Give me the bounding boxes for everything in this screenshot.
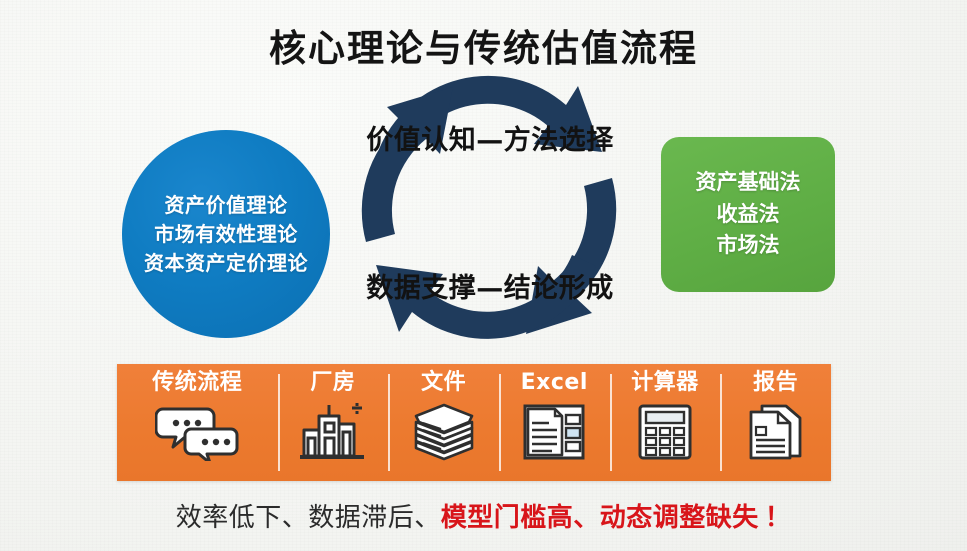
process-item-documents[interactable]: 文件 [388,364,499,481]
theory-circle: 资产价值理论 市场有效性理论 资本资产定价理论 [122,130,330,338]
traditional-process-bar: 传统流程 厂房 [117,364,831,481]
method-line-1: 资产基础法 [696,167,801,199]
process-item-factory[interactable]: 厂房 [278,364,389,481]
process-label-3: Excel [521,372,588,394]
paper-stack-icon [411,401,477,463]
cycle-top-label: 价值认知—方法选择 [320,118,660,157]
cycle-arrows-diagram [340,66,640,356]
caption-exclamation: ！ [759,503,792,533]
pain-point-caption: 效率低下、数据滞后、模型门槛高、动态调整缺失！ [0,497,967,534]
theory-line-1: 资产价值理论 [165,191,288,220]
cycle-bottom-label: 数据支撑—结论形成 [320,266,660,305]
cycle-arrows-svg [340,66,640,356]
process-label-5: 报告 [753,372,798,394]
slide-canvas: 核心理论与传统估值流程 资产价值理论 市场有效性理论 资本资产定价理论 资产基础… [0,0,967,551]
process-label-0: 传统流程 [152,372,242,394]
caption-dark-text: 效率低下、数据滞后、 [176,503,441,533]
method-box: 资产基础法 收益法 市场法 [661,137,835,292]
page-title: 核心理论与传统估值流程 [0,18,967,72]
speech-bubbles-icon [155,401,239,463]
arrow-left-icon [362,87,453,242]
method-line-2: 收益法 [717,199,780,231]
process-label-2: 文件 [421,372,466,394]
report-documents-icon [746,401,806,463]
caption-red-text: 模型门槛高、动态调整缺失 [441,503,759,533]
spreadsheet-document-icon [522,401,586,463]
process-item-calculator[interactable]: 计算器 [610,364,721,481]
calculator-icon [637,401,693,463]
process-item-traditional-flow[interactable]: 传统流程 [117,364,278,481]
process-label-1: 厂房 [310,372,355,394]
factory-buildings-icon [298,401,368,463]
theory-line-2: 市场有效性理论 [154,220,298,249]
theory-line-3: 资本资产定价理论 [144,249,308,278]
process-label-4: 计算器 [631,372,699,394]
process-item-report[interactable]: 报告 [720,364,831,481]
method-line-3: 市场法 [717,230,780,262]
process-item-excel[interactable]: Excel [499,364,610,481]
